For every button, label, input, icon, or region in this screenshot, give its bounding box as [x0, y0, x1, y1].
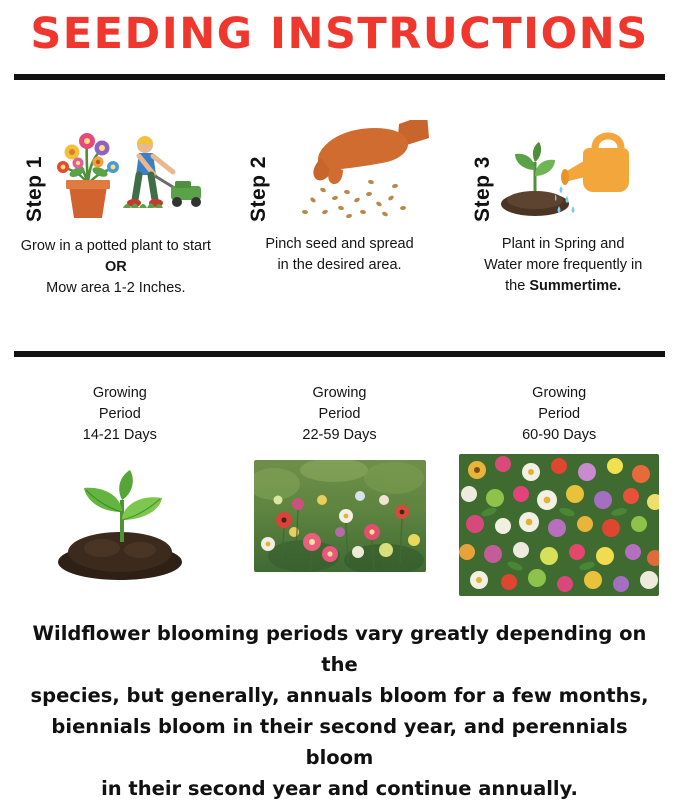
step-2-caption-line1: Pinch seed and spread: [265, 236, 413, 252]
growing-period-3-line3: 60-90 Days: [522, 427, 596, 443]
step-3-art-area: Step 3: [451, 114, 675, 222]
step-3-caption: Plant in Spring and Water more frequentl…: [451, 234, 675, 297]
step-3-caption-line3-prefix: the: [505, 278, 529, 294]
person-mowing-icon: [119, 132, 207, 222]
growing-period-2-line1: Growing: [313, 385, 367, 401]
seeding-instructions-page: SEEDING INSTRUCTIONS Step 1: [0, 6, 679, 797]
growing-period-3-line2: Period: [538, 406, 580, 422]
footer-line-3: biennials bloom in their second year, an…: [51, 715, 627, 769]
step-1-caption-line2: OR: [105, 259, 127, 275]
growing-period-1-line1: Growing: [93, 385, 147, 401]
footer-line-1: Wildflower blooming periods vary greatly…: [33, 622, 647, 676]
growing-period-1-line3: 14-21 Days: [83, 427, 157, 443]
step-1-label: Step 1: [24, 156, 45, 222]
dense-wildflower-photo: [459, 454, 659, 596]
step-1-caption: Grow in a potted plant to start OR Mow a…: [4, 236, 228, 299]
divider-middle: [14, 351, 665, 357]
growing-period-2-line3: 22-59 Days: [302, 427, 376, 443]
growing-period-2-heading: Growing Period 22-59 Days: [302, 383, 376, 446]
step-1-caption-line1: Grow in a potted plant to start: [21, 238, 211, 254]
growing-period-2-line2: Period: [319, 406, 361, 422]
growing-period-3: Growing Period 60-90 Days: [449, 383, 669, 596]
step-2-art-area: Step 2: [228, 114, 452, 222]
growing-period-1-heading: Growing Period 14-21 Days: [83, 383, 157, 446]
growing-period-3-heading: Growing Period 60-90 Days: [522, 383, 596, 446]
wildflower-meadow-photo: [254, 460, 426, 572]
footer-line-2: species, but generally, annuals bloom fo…: [31, 684, 649, 707]
step-1-caption-line3: Mow area 1-2 Inches.: [46, 280, 185, 296]
step-1: Step 1: [4, 114, 228, 299]
step-2: Step 2: [228, 114, 452, 299]
growing-period-3-line1: Growing: [532, 385, 586, 401]
growing-period-1: Growing Period 14-21 Days: [10, 383, 230, 596]
potted-flowers-icon: [51, 122, 125, 222]
step-2-label: Step 2: [248, 156, 269, 222]
step-2-caption-line2: in the desired area.: [277, 257, 401, 273]
footer-description: Wildflower blooming periods vary greatly…: [16, 618, 663, 804]
step-1-art-area: Step 1: [4, 114, 228, 222]
step-1-artwork: [47, 116, 207, 222]
growing-periods-row: Growing Period 14-21 Days: [0, 383, 679, 596]
step-3: Step 3: [451, 114, 675, 299]
step-2-artwork: [271, 116, 431, 222]
watering-can-icon: [555, 118, 655, 218]
footer-line-4: in their second year and continue annual…: [101, 777, 578, 800]
divider-top: [14, 74, 665, 80]
step-2-caption: Pinch seed and spread in the desired are…: [228, 234, 452, 276]
step-3-caption-line3-bold: Summertime.: [529, 278, 621, 294]
page-title: SEEDING INSTRUCTIONS: [0, 6, 679, 62]
hand-sprinkling-seed-icon: [279, 120, 429, 220]
step-3-caption-line2: Water more frequently in: [484, 257, 642, 273]
seedling-sprout-photo: [30, 460, 210, 580]
step-3-artwork: [495, 116, 655, 222]
steps-row: Step 1: [0, 114, 679, 299]
step-3-caption-line1: Plant in Spring and: [502, 236, 625, 252]
growing-period-1-line2: Period: [99, 406, 141, 422]
step-3-label: Step 3: [472, 156, 493, 222]
growing-period-2: Growing Period 22-59 Days: [230, 383, 450, 596]
